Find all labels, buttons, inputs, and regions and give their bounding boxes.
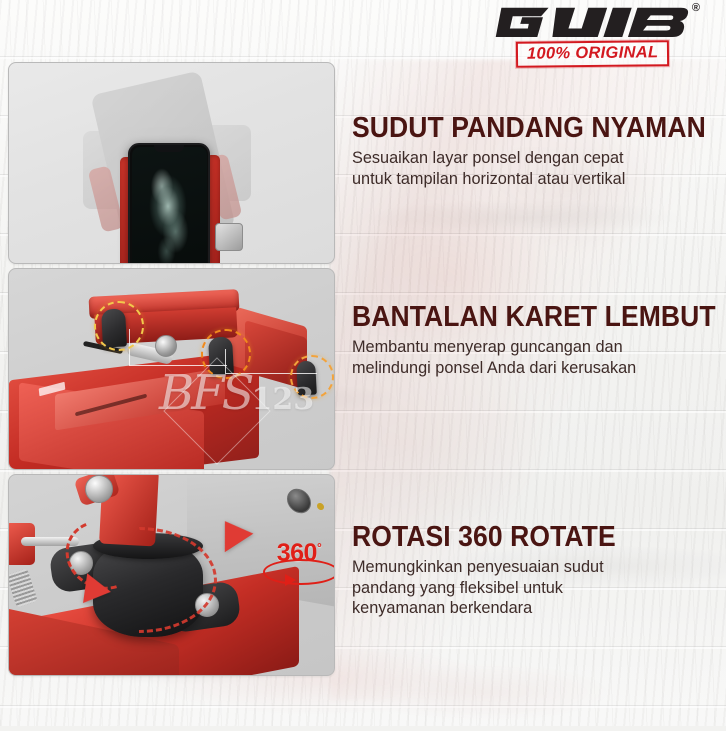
feature-2-desc-line-2: melindungi ponsel Anda dari kerusakan — [352, 358, 724, 379]
feature-2-description: Membantu menyerap guncangan dan melindun… — [352, 337, 724, 378]
feature-2-title: BANTALAN KARET LEMBUT — [352, 303, 698, 332]
highlight-circle-pad-1 — [94, 301, 144, 351]
clamp-knurled-screw — [155, 335, 177, 357]
feature-1-title: SUDUT PANDANG NYAMAN — [352, 114, 698, 143]
phone-notch — [154, 145, 184, 152]
feature-text-sudut-pandang: SUDUT PANDANG NYAMAN Sesuaikan layar pon… — [352, 114, 724, 189]
mount-adjust-knob — [215, 223, 243, 251]
smartphone-in-mount — [128, 143, 210, 264]
rotation-arrow-left-icon — [83, 573, 113, 606]
feature-text-rotasi-360: ROTASI 360 ROTATE Memungkinkan penyesuai… — [352, 523, 724, 619]
registered-trademark-icon: ® — [692, 2, 700, 14]
feature-1-desc-line-2: untuk tampilan horizontal atau vertikal — [352, 169, 724, 190]
feature-text-bantalan-karet: BANTALAN KARET LEMBUT Membantu menyerap … — [352, 303, 724, 378]
phone-screen-wallpaper — [132, 147, 207, 265]
rotation-360-badge: 360° — [259, 541, 335, 583]
phone-camera-flash — [317, 502, 324, 510]
rotation-360-ellipse-icon — [263, 559, 335, 585]
gub-logo: ® — [488, 4, 698, 38]
feature-3-desc-line-1: Memungkinkan penyesuaian sudut — [352, 557, 724, 578]
rotation-360-arrow-tip-icon — [285, 574, 296, 586]
mount-pivot-bolt-head — [85, 475, 113, 503]
feature-1-desc-line-1: Sesuaikan layar ponsel dengan cepat — [352, 148, 724, 169]
feature-3-description: Memungkinkan penyesuaian sudut pandang y… — [352, 557, 724, 619]
gub-logo-mark — [488, 4, 698, 38]
feature-panel-phone-in-mount — [8, 62, 335, 264]
original-stamp-badge: 100% ORIGINAL — [516, 40, 670, 68]
feature-3-desc-line-2: pandang yang fleksibel untuk — [352, 578, 724, 599]
feature-panel-rotating-base: 360° — [8, 474, 335, 676]
feature-3-title: ROTASI 360 ROTATE — [352, 523, 698, 552]
feature-1-description: Sesuaikan layar ponsel dengan cepat untu… — [352, 148, 724, 189]
highlight-circle-pad-3 — [290, 355, 334, 399]
feature-3-desc-line-3: kenyamanan berkendara — [352, 598, 724, 619]
brand-header: ® 100% ORIGINAL — [478, 4, 708, 66]
feature-2-desc-line-1: Membantu menyerap guncangan dan — [352, 337, 724, 358]
feature-panel-rubber-pads: BFS123 — [8, 268, 335, 470]
mount-spring — [8, 568, 38, 607]
degree-symbol-icon: ° — [317, 541, 321, 555]
